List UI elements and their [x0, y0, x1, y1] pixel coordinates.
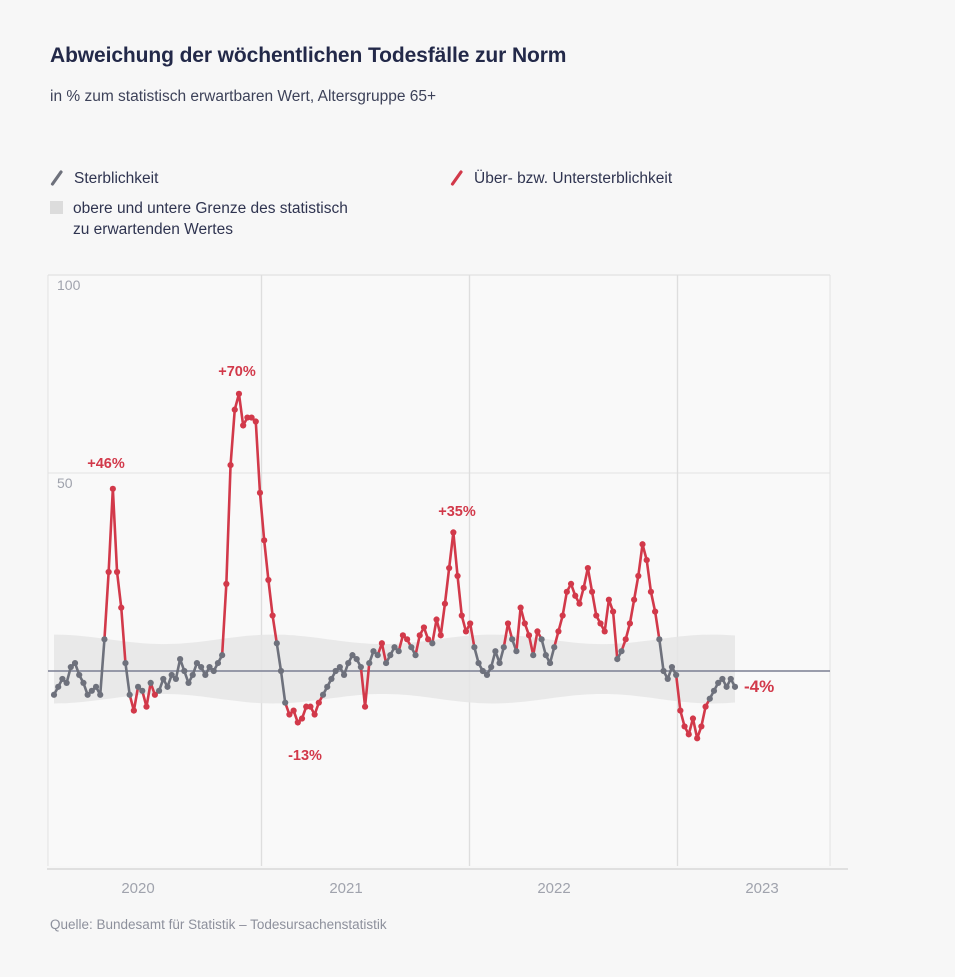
data-point: [627, 620, 633, 626]
data-point: [484, 672, 490, 678]
data-point: [526, 632, 532, 638]
data-point: [463, 628, 469, 634]
data-point: [576, 601, 582, 607]
data-point: [568, 581, 574, 587]
data-point: [593, 612, 599, 618]
data-point: [320, 692, 326, 698]
data-point: [223, 581, 229, 587]
data-point: [354, 656, 360, 662]
data-point: [496, 660, 502, 666]
data-point: [686, 731, 692, 737]
data-point: [673, 672, 679, 678]
data-point: [337, 664, 343, 670]
data-point: [366, 660, 372, 666]
data-point: [396, 648, 402, 654]
data-point: [261, 537, 267, 543]
data-point: [681, 723, 687, 729]
data-point: [387, 652, 393, 658]
annotation-label: -13%: [288, 748, 322, 764]
data-point: [236, 391, 242, 397]
data-point: [639, 541, 645, 547]
data-point: [513, 648, 519, 654]
data-point: [501, 644, 507, 650]
data-point: [227, 462, 233, 468]
data-point: [648, 589, 654, 595]
data-point: [539, 636, 545, 642]
data-point: [723, 684, 729, 690]
data-point: [438, 632, 444, 638]
data-point: [299, 715, 305, 721]
data-point: [602, 628, 608, 634]
data-point: [118, 605, 124, 611]
data-point: [215, 660, 221, 666]
data-point: [51, 692, 57, 698]
data-point: [551, 644, 557, 650]
data-point: [412, 652, 418, 658]
data-point: [429, 640, 435, 646]
data-point: [564, 589, 570, 595]
data-point: [345, 660, 351, 666]
data-point: [190, 672, 196, 678]
chart-plot-area: 501002020202120222023+46%+70%-13%+35%-4%: [0, 0, 955, 900]
data-point: [101, 636, 107, 642]
data-point: [160, 676, 166, 682]
data-point: [522, 620, 528, 626]
data-point: [459, 612, 465, 618]
data-point: [732, 684, 738, 690]
annotation-label: +35%: [438, 504, 476, 520]
annotation-label: +46%: [87, 456, 125, 472]
data-point: [379, 640, 385, 646]
data-point: [55, 684, 61, 690]
data-point: [475, 660, 481, 666]
data-point: [492, 648, 498, 654]
data-point: [433, 616, 439, 622]
data-point: [660, 668, 666, 674]
data-point: [316, 700, 322, 706]
data-point: [143, 704, 149, 710]
data-point: [690, 715, 696, 721]
data-point: [450, 529, 456, 535]
annotation-label: -4%: [744, 677, 774, 696]
data-point: [312, 711, 318, 717]
data-point: [471, 644, 477, 650]
data-point: [644, 557, 650, 563]
data-point: [543, 652, 549, 658]
data-point: [652, 609, 658, 615]
data-point: [417, 632, 423, 638]
data-point: [656, 636, 662, 642]
data-point: [76, 672, 82, 678]
source-note: Quelle: Bundesamt für Statistik – Todesu…: [50, 917, 387, 932]
data-point: [341, 672, 347, 678]
data-point: [278, 668, 284, 674]
data-point: [560, 612, 566, 618]
x-tick-label: 2022: [537, 880, 570, 897]
data-point: [202, 672, 208, 678]
data-point: [139, 688, 145, 694]
data-point: [375, 652, 381, 658]
data-point: [148, 680, 154, 686]
data-point: [446, 565, 452, 571]
plot-background: [48, 275, 830, 866]
data-point: [404, 636, 410, 642]
data-point: [467, 620, 473, 626]
data-point: [97, 692, 103, 698]
data-point: [534, 628, 540, 634]
data-point: [421, 624, 427, 630]
chart-page: Abweichung der wöchentlichen Todesfälle …: [0, 0, 955, 977]
data-point: [253, 418, 259, 424]
data-point: [232, 407, 238, 413]
data-point: [185, 680, 191, 686]
data-point: [362, 704, 368, 710]
data-point: [211, 668, 217, 674]
data-point: [127, 692, 133, 698]
data-point: [93, 684, 99, 690]
data-point: [614, 656, 620, 662]
data-point: [518, 605, 524, 611]
data-point: [454, 573, 460, 579]
data-point: [530, 652, 536, 658]
data-point: [383, 660, 389, 666]
y-tick-label: 50: [57, 475, 73, 491]
data-point: [328, 676, 334, 682]
data-point: [707, 696, 713, 702]
data-point: [631, 597, 637, 603]
data-point: [324, 684, 330, 690]
data-point: [177, 656, 183, 662]
data-point: [114, 569, 120, 575]
data-point: [240, 422, 246, 428]
data-point: [80, 680, 86, 686]
data-point: [181, 668, 187, 674]
data-point: [265, 577, 271, 583]
data-point: [106, 569, 112, 575]
data-point: [702, 704, 708, 710]
data-point: [547, 660, 553, 666]
data-point: [572, 593, 578, 599]
data-point: [64, 680, 70, 686]
y-tick-label: 100: [57, 277, 81, 293]
data-point: [408, 644, 414, 650]
x-tick-label: 2021: [329, 880, 362, 897]
data-point: [358, 664, 364, 670]
data-point: [728, 676, 734, 682]
data-point: [274, 640, 280, 646]
data-point: [509, 636, 515, 642]
data-point: [669, 664, 675, 670]
data-point: [291, 708, 297, 714]
data-point: [711, 688, 717, 694]
data-point: [173, 676, 179, 682]
data-point: [505, 620, 511, 626]
data-point: [698, 723, 704, 729]
x-axis-labels: 2020202120222023: [121, 880, 778, 897]
data-point: [488, 664, 494, 670]
data-point: [72, 660, 78, 666]
data-point: [581, 585, 587, 591]
chart-svg: 501002020202120222023+46%+70%-13%+35%-4%: [0, 0, 955, 900]
x-tick-label: 2020: [121, 880, 154, 897]
data-point: [610, 609, 616, 615]
data-point: [618, 648, 624, 654]
data-point: [635, 573, 641, 579]
data-point: [164, 684, 170, 690]
data-point: [219, 652, 225, 658]
data-point: [269, 612, 275, 618]
data-point: [606, 597, 612, 603]
data-point: [677, 708, 683, 714]
data-point: [597, 620, 603, 626]
data-point: [282, 700, 288, 706]
data-point: [198, 664, 204, 670]
data-point: [585, 565, 591, 571]
annotation-label: +70%: [218, 364, 256, 380]
data-point: [694, 735, 700, 741]
data-point: [122, 660, 128, 666]
data-point: [131, 708, 137, 714]
data-point: [442, 601, 448, 607]
data-point: [719, 676, 725, 682]
data-point: [555, 628, 561, 634]
data-point: [156, 688, 162, 694]
data-point: [623, 636, 629, 642]
x-tick-label: 2023: [745, 880, 778, 897]
data-point: [110, 486, 116, 492]
data-point: [665, 676, 671, 682]
data-point: [307, 704, 313, 710]
data-point: [589, 589, 595, 595]
data-point: [257, 490, 263, 496]
